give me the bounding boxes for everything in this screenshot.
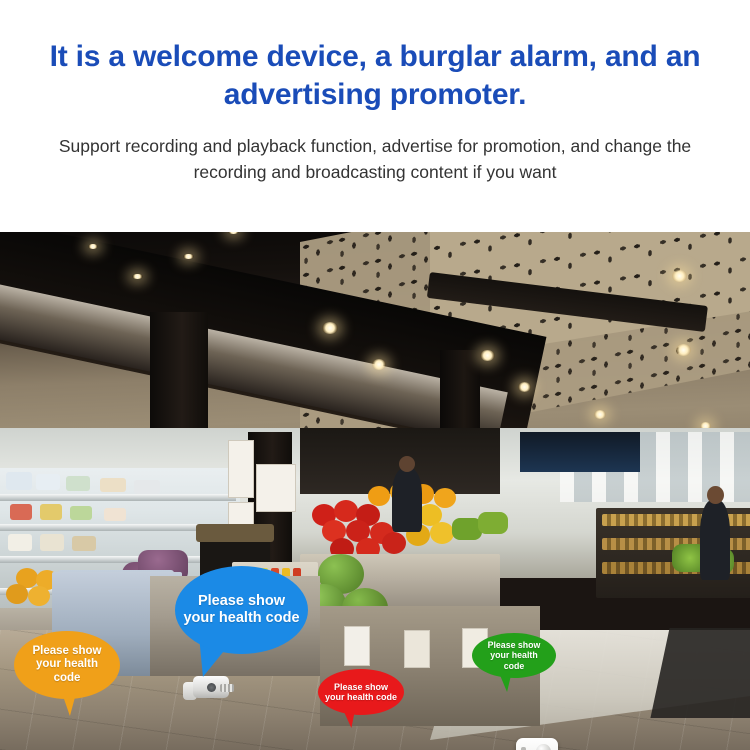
- shopper-right: [700, 500, 730, 580]
- ceiling-spotlight: [183, 254, 194, 259]
- ceiling-spotlight: [672, 270, 687, 282]
- counter-poster: [344, 626, 370, 666]
- camera-lens-icon: [207, 683, 216, 692]
- page-subtitle: Support recording and playback function,…: [39, 114, 711, 185]
- pir-sensor-icon: [536, 744, 551, 750]
- speech-bubble-blue: Please show your health code: [175, 566, 308, 654]
- page-title: It is a welcome device, a burglar alarm,…: [25, 0, 725, 114]
- shelf-product: [104, 508, 126, 521]
- shelf-product: [6, 472, 32, 490]
- shelf-product: [8, 534, 32, 551]
- white-wireless-alarm-device: [516, 738, 558, 750]
- speech-bubble-red: Please show your health code: [318, 669, 404, 715]
- produce-orange: [434, 488, 456, 508]
- shelf-product: [72, 536, 96, 551]
- shelf-product: [36, 474, 60, 490]
- header-text-block: It is a welcome device, a burglar alarm,…: [0, 0, 750, 232]
- shelf-sign-card: [228, 440, 254, 498]
- display-box-dark: [196, 524, 274, 542]
- supermarket-scene-photo: Please show your health code Please show…: [0, 232, 750, 750]
- ceiling-spotlight: [676, 344, 691, 356]
- shelf-sign-card: [256, 464, 296, 512]
- ceiling-spotlight: [480, 350, 495, 361]
- produce-pepper: [430, 522, 454, 544]
- produce-orange: [28, 586, 50, 606]
- produce-tomato: [334, 500, 358, 522]
- speech-bubble-text: Please show your health code: [472, 640, 556, 671]
- speech-bubble-text: Please show your health code: [14, 645, 120, 685]
- ceiling-spotlight: [88, 244, 98, 249]
- shelf-edge: [0, 524, 228, 531]
- produce-orange: [368, 486, 390, 506]
- produce-greens: [478, 512, 508, 534]
- shelf-product: [66, 476, 90, 491]
- speaker-grill-icon: [220, 684, 234, 692]
- counter-poster: [404, 630, 430, 668]
- shopper-center-head: [399, 456, 415, 472]
- back-display-screen: [520, 432, 640, 472]
- shelf-product: [10, 504, 32, 520]
- shopper-center: [392, 468, 422, 532]
- scene-illustration: Please show your health code Please show…: [0, 232, 750, 750]
- shopper-right-head: [707, 486, 724, 504]
- ceiling-spotlight: [322, 322, 338, 334]
- product-feature-banner: It is a welcome device, a burglar alarm,…: [0, 0, 750, 750]
- speech-bubble-text: Please show your health code: [318, 682, 404, 703]
- ceiling-spotlight: [594, 410, 606, 419]
- ceiling-spotlight: [518, 382, 531, 392]
- ceiling-spotlight: [372, 359, 386, 370]
- produce-tomato: [382, 532, 406, 554]
- speech-bubble-orange-left: Please show your health code: [14, 631, 120, 699]
- camera-body: [193, 676, 229, 698]
- shelf-product: [134, 480, 160, 494]
- produce-orange: [6, 584, 28, 604]
- ceiling-spotlight: [132, 274, 143, 279]
- shelf-product: [40, 534, 64, 551]
- shelf-product: [40, 504, 62, 520]
- alarm-body: [516, 738, 558, 750]
- speech-bubble-green: Please show your health code: [472, 633, 556, 678]
- shelf-product: [100, 478, 126, 492]
- speech-bubble-text: Please show your health code: [175, 593, 308, 627]
- shelf-edge: [0, 494, 236, 501]
- shelf-product: [70, 506, 92, 520]
